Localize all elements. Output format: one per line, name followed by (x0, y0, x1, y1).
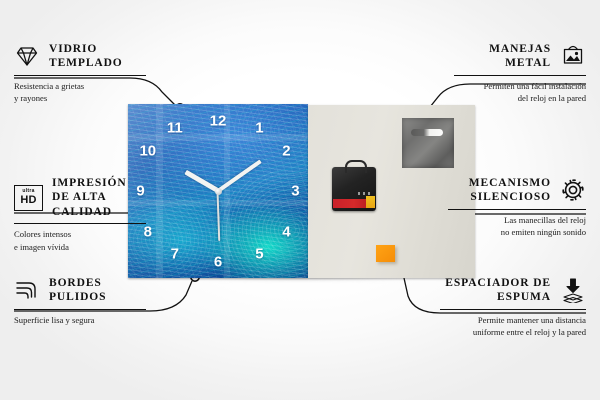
ultra-hd-icon: ultra HD (14, 185, 43, 211)
infographic-canvas: 12 1 2 3 4 5 6 7 8 9 10 11 (0, 0, 600, 400)
clock-numeral: 5 (255, 247, 263, 262)
feature-vidrio-templado: VIDRIO TEMPLADO Resistencia a grietas y … (14, 42, 146, 104)
feature-title: VIDRIO TEMPLADO (49, 42, 146, 71)
clock-numeral: 4 (282, 225, 290, 240)
feature-desc: Colores intensos e imagen vívida (14, 228, 146, 252)
diamond-icon (14, 43, 40, 69)
feature-rule (440, 309, 586, 310)
movement-detail (358, 192, 372, 195)
product-photo: 12 1 2 3 4 5 6 7 8 9 10 11 (128, 104, 476, 280)
clock-numeral: 7 (171, 247, 179, 262)
foam-spacer-arrow-icon (560, 277, 586, 303)
clock-numeral: 10 (139, 144, 156, 159)
ultra-hd-icon-large-text: HD (20, 195, 36, 206)
feature-desc: Permite mantener una distancia uniforme … (440, 314, 586, 338)
clock-front-panel: 12 1 2 3 4 5 6 7 8 9 10 11 (128, 104, 308, 278)
metal-hanger-plate (402, 118, 454, 168)
feature-rule (454, 75, 586, 76)
clock-center-cap (215, 188, 222, 195)
clock-numeral: 6 (214, 255, 222, 270)
feature-desc: Permiten una fácil instalación del reloj… (454, 80, 586, 104)
feature-mecanismo-silencioso: MECANISMO SILENCIOSO Las manecillas del … (448, 176, 586, 238)
gear-icon (560, 177, 586, 203)
clock-numeral: 1 (255, 121, 263, 136)
feature-espaciador-espuma: ESPACIADOR DE ESPUMA Permite mantener un… (440, 276, 586, 338)
feature-manejas-metal: MANEJAS METAL Permiten una fácil instala… (454, 42, 586, 104)
clock-numeral: 11 (167, 121, 183, 136)
feature-desc: Las manecillas del reloj no emiten ningú… (448, 214, 586, 238)
polished-edges-icon (14, 277, 40, 303)
feature-impresion-alta-calidad: ultra HD IMPRESIÓN DE ALTA CALIDAD Color… (14, 176, 146, 253)
clock-numeral: 12 (210, 114, 227, 129)
feature-rule (448, 209, 586, 210)
foam-spacer (376, 245, 395, 262)
feature-bordes-pulidos: BORDES PULIDOS Superficie lisa y segura (14, 276, 146, 326)
movement-label (333, 199, 371, 208)
feature-title: BORDES PULIDOS (49, 276, 146, 305)
feature-title: ESPACIADOR DE ESPUMA (440, 276, 551, 305)
wall-hanger-frame-icon (560, 43, 586, 69)
feature-rule (14, 309, 146, 310)
feature-title: MECANISMO SILENCIOSO (448, 176, 551, 205)
feature-title: MANEJAS METAL (454, 42, 551, 71)
feature-rule (14, 75, 146, 76)
movement-hook (345, 160, 367, 173)
clock-numeral: 3 (291, 184, 299, 199)
clock-numeral: 2 (282, 144, 290, 159)
feature-desc: Resistencia a grietas y rayones (14, 80, 146, 104)
feature-title: IMPRESIÓN DE ALTA CALIDAD (52, 176, 146, 219)
feature-desc: Superficie lisa y segura (14, 314, 146, 326)
quartz-movement (332, 167, 376, 211)
feature-rule (14, 223, 146, 224)
